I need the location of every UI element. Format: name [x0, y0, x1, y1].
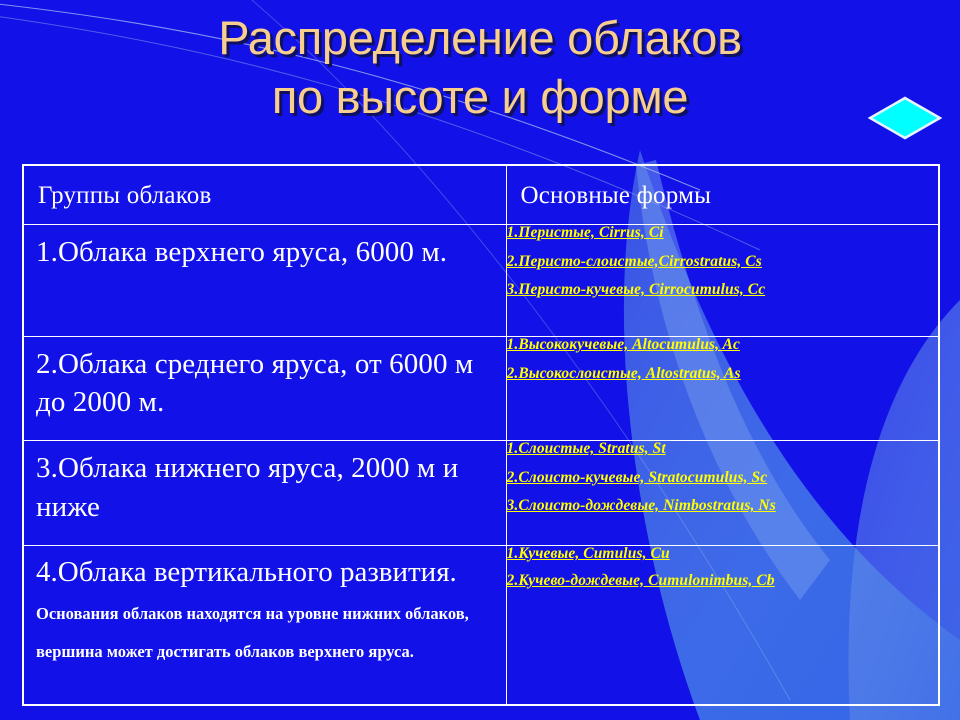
form-item: 1.Кучевые, Cumulus, Cu	[507, 546, 939, 562]
forms-cell: 1.Слоистые, Stratus, St 2.Слоисто-кучевы…	[506, 441, 939, 546]
form-item: 2.Слоисто-кучевые, Stratocumulus, Sc	[507, 470, 939, 486]
table-row: 2.Облака среднего яруса, от 6000 м до 20…	[23, 337, 939, 441]
form-item: 2.Кучево-дождевые, Cumulonimbus, Cb	[507, 573, 939, 589]
header-cell-forms: Основные формы	[506, 165, 939, 225]
group-cell: 1.Облака верхнего яруса, 6000 м.	[23, 225, 506, 337]
table-row: 4.Облака вертикального развития. Основан…	[23, 546, 939, 705]
slide-title: Распределение облаков по высоте и форме	[0, 8, 960, 126]
group-cell: 4.Облака вертикального развития. Основан…	[23, 546, 506, 705]
group-title: 4.Облака вертикального развития.	[36, 556, 457, 588]
header-label-groups: Группы облаков	[24, 166, 506, 208]
forms-cell: 1.Высококучевые, Altocumulus, Ac 2.Высок…	[506, 337, 939, 441]
group-title: 2.Облака среднего яруса, от 6000 м до 20…	[24, 337, 506, 422]
form-item: 2.Перисто-слоистые,Cirrostratus, Cs	[507, 254, 939, 270]
group-title: 1.Облака верхнего яруса, 6000 м.	[24, 225, 506, 271]
form-item: 2.Высокослоистые, Altostratus, As	[507, 366, 939, 382]
group-title: 3.Облака нижнего яруса, 2000 м и ниже	[24, 441, 506, 526]
forms-cell: 1.Кучевые, Cumulus, Cu 2.Кучево-дождевые…	[506, 546, 939, 705]
group-cell: 3.Облака нижнего яруса, 2000 м и ниже	[23, 441, 506, 546]
header-cell-groups: Группы облаков	[23, 165, 506, 225]
form-item: 3.Слоисто-дождевые, Nimbostratus, Ns	[507, 498, 939, 514]
table-row: 1.Облака верхнего яруса, 6000 м. 1.Перис…	[23, 225, 939, 337]
form-item: 1.Перистые, Cirrus, Ci	[507, 225, 939, 241]
group-title-block: 4.Облака вертикального развития. Основан…	[24, 546, 506, 667]
table-header-row: Группы облаков Основные формы	[23, 165, 939, 225]
form-item: 1.Высококучевые, Altocumulus, Ac	[507, 337, 939, 353]
form-item: 3.Перисто-кучевые, Cirrocumulus, Cc	[507, 282, 939, 298]
form-item: 1.Слоистые, Stratus, St	[507, 441, 939, 457]
forms-cell: 1.Перистые, Cirrus, Ci 2.Перисто-слоисты…	[506, 225, 939, 337]
slide-canvas: Распределение облаков по высоте и форме …	[0, 0, 960, 720]
group-note: Основания облаков находятся на уровне ни…	[36, 604, 469, 661]
header-label-forms: Основные формы	[507, 166, 939, 208]
cloud-classification-table: Группы облаков Основные формы 1.Облака в…	[22, 164, 940, 706]
table-row: 3.Облака нижнего яруса, 2000 м и ниже 1.…	[23, 441, 939, 546]
group-cell: 2.Облака среднего яруса, от 6000 м до 20…	[23, 337, 506, 441]
